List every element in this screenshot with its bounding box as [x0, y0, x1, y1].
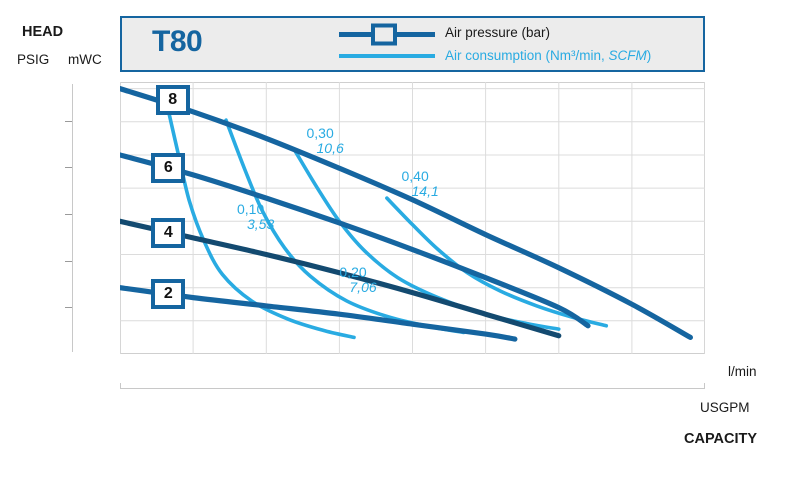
pressure-marker-8bar: 8: [156, 85, 190, 115]
psig-tick-dash-20: [65, 307, 72, 308]
model-title: T80: [152, 25, 202, 59]
head-axis-title: HEAD: [22, 24, 63, 40]
usgpm-axis-cap-right: [704, 383, 705, 389]
usgpm-axis-label: USGPM: [700, 400, 750, 415]
chart-root: HEAD PSIG mWC l/min USGPM CAPACITY T80 A…: [0, 0, 800, 478]
pressure-marker-2bar: 2: [151, 279, 185, 309]
ann-0-10-nm3: 0,10: [237, 201, 264, 217]
psig-tick-dash-40: [65, 261, 72, 262]
legend-item-air-consumption: Air consumption (Nm³/min, SCFM): [337, 46, 687, 69]
legend-consumption-post: ): [647, 48, 652, 63]
curve-consumption-0-40: [387, 198, 606, 326]
psig-tick-dash-100: [65, 121, 72, 122]
psig-axis-label: PSIG: [17, 52, 49, 67]
lmin-axis-label: l/min: [728, 364, 757, 379]
psig-tick-dash-80: [65, 167, 72, 168]
psig-axis-rule: [72, 84, 73, 352]
ann-0-20-scfm: 7,06: [349, 279, 376, 295]
air-consumption-legend-icon: [337, 46, 437, 69]
legend-item-air-pressure: Air pressure (bar): [337, 23, 687, 46]
pressure-marker-4bar: 4: [151, 218, 185, 248]
ann-0-20: 0,207,06: [339, 264, 376, 295]
legend-label-air-consumption: Air consumption (Nm³/min, SCFM): [445, 48, 651, 63]
ann-0-40-scfm: 14,1: [412, 183, 439, 199]
mwc-axis-label: mWC: [68, 52, 102, 67]
pressure-marker-6bar: 6: [151, 153, 185, 183]
usgpm-axis-rule: [120, 388, 705, 389]
ann-0-10: 0,103,53: [237, 201, 274, 232]
ann-0-20-nm3: 0,20: [339, 264, 366, 280]
legend-consumption-scfm: SCFM: [609, 48, 647, 63]
legend: Air pressure (bar) Air consumption (Nm³/…: [337, 23, 687, 69]
chart-header-box: T80 Air pressure (bar) Air consumption (…: [120, 16, 705, 72]
psig-tick-dash-60: [65, 214, 72, 215]
capacity-axis-title: CAPACITY: [684, 431, 757, 447]
ann-0-10-scfm: 3,53: [247, 216, 274, 232]
plot-area: [120, 82, 705, 354]
legend-label-air-pressure: Air pressure (bar): [445, 25, 550, 40]
ann-0-30: 0,3010,6: [307, 125, 344, 156]
legend-consumption-pre: Air consumption (Nm³/min,: [445, 48, 609, 63]
ann-0-40-nm3: 0,40: [402, 168, 429, 184]
ann-0-40: 0,4014,1: [402, 168, 439, 199]
air-pressure-legend-icon: [337, 23, 437, 46]
ann-0-30-scfm: 10,6: [317, 140, 344, 156]
ann-0-30-nm3: 0,30: [307, 125, 334, 141]
curve-layer: [120, 82, 705, 354]
usgpm-axis-cap-left: [120, 383, 121, 389]
